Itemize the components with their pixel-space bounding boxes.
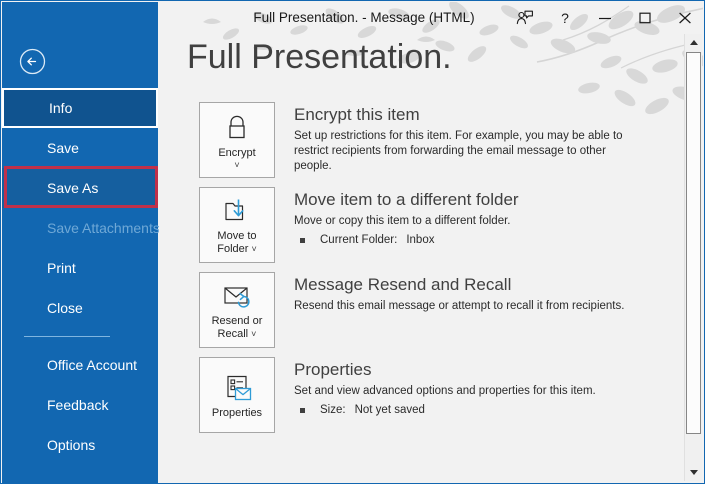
sidebar-item-label: Print — [47, 260, 76, 276]
fact-current-folder: Current Folder: Inbox — [294, 232, 679, 248]
back-arrow-icon[interactable] — [19, 48, 46, 75]
section-description: Set and view advanced options and proper… — [294, 384, 639, 399]
padlock-icon — [224, 111, 250, 145]
backstage-sidebar: Info Save Save As Save Attachments Print… — [2, 2, 158, 484]
sidebar-item-save-as[interactable]: Save As — [2, 168, 158, 208]
sidebar-item-info[interactable]: Info — [2, 88, 158, 128]
resend-or-recall-button[interactable]: Resend or Recall ˅ — [199, 272, 275, 348]
titlebar-button-group: ? — [505, 2, 703, 33]
sidebar-item-save-attachments: Save Attachments — [2, 208, 158, 248]
section-facts: Current Folder: Inbox — [294, 232, 679, 248]
main-scrollbar[interactable] — [684, 34, 702, 481]
scrollbar-thumb[interactable] — [686, 52, 701, 434]
scroll-down-icon[interactable] — [685, 464, 702, 481]
section-heading: Encrypt this item — [294, 104, 679, 126]
section-move-to-folder: Move to Folder ˅ Move item to a differen… — [159, 187, 679, 263]
section-encrypt-body: Encrypt this item Set up restrictions fo… — [294, 102, 679, 174]
sidebar-item-label: Feedback — [47, 397, 108, 413]
sidebar-divider — [24, 336, 110, 337]
section-resend-recall-body: Message Resend and Recall Resend this em… — [294, 272, 679, 314]
fact-label: Current Folder: — [320, 232, 397, 248]
section-description: Set up restrictions for this item. For e… — [294, 129, 639, 174]
sidebar-item-office-account[interactable]: Office Account — [2, 345, 158, 385]
page-title: Full Presentation. — [187, 38, 452, 77]
chevron-down-icon: ˅ — [234, 160, 239, 170]
properties-icon — [222, 371, 252, 405]
sidebar-item-label: Options — [47, 437, 95, 453]
sidebar-item-label: Office Account — [47, 357, 137, 373]
share-person-icon[interactable] — [505, 2, 545, 33]
move-to-folder-button[interactable]: Move to Folder ˅ — [199, 187, 275, 263]
window-titlebar: Full Presentation. - Message (HTML) ? — [159, 2, 703, 33]
section-properties-body: Properties Set and view advanced options… — [294, 357, 679, 418]
sidebar-item-label: Close — [47, 300, 83, 316]
help-icon[interactable]: ? — [545, 2, 585, 33]
properties-button-label: Properties — [212, 407, 262, 420]
bullet-icon — [300, 238, 305, 243]
outlook-backstage-window: Info Save Save As Save Attachments Print… — [0, 0, 705, 484]
sidebar-item-print[interactable]: Print — [2, 248, 158, 288]
backstage-nav-list: Info Save Save As Save Attachments Print… — [2, 88, 158, 465]
sidebar-item-label: Info — [49, 100, 72, 116]
section-encrypt: Encrypt ˅ Encrypt this item Set up restr… — [159, 102, 679, 178]
section-move-to-folder-body: Move item to a different folder Move or … — [294, 187, 679, 248]
sidebar-item-close[interactable]: Close — [2, 288, 158, 328]
section-heading: Message Resend and Recall — [294, 274, 679, 296]
maximize-icon[interactable] — [625, 2, 665, 33]
section-heading: Move item to a different folder — [294, 189, 679, 211]
section-description: Move or copy this item to a different fo… — [294, 214, 639, 229]
properties-button[interactable]: Properties — [199, 357, 275, 433]
chevron-down-icon: ˅ — [251, 244, 256, 254]
sidebar-item-label: Save As — [47, 180, 98, 196]
resend-or-recall-button-label: Resend or Recall ˅ — [212, 315, 263, 341]
sidebar-item-label: Save — [47, 140, 79, 156]
fact-size: Size: Not yet saved — [294, 402, 679, 418]
section-resend-recall: Resend or Recall ˅ Message Resend and Re… — [159, 272, 679, 348]
section-properties: Properties Properties Set and view advan… — [159, 357, 679, 433]
sidebar-item-feedback[interactable]: Feedback — [2, 385, 158, 425]
bullet-icon — [300, 408, 305, 413]
scroll-up-icon[interactable] — [685, 34, 702, 51]
resend-envelope-icon — [221, 279, 253, 313]
encrypt-button-label: Encrypt — [218, 147, 255, 160]
fact-value: Inbox — [406, 232, 434, 248]
move-to-folder-button-label: Move to Folder ˅ — [217, 230, 257, 256]
move-to-folder-icon — [222, 194, 252, 228]
backstage-main-pane: Full Presentation. - Message (HTML) ? — [159, 2, 703, 482]
minimize-icon[interactable] — [585, 2, 625, 33]
fact-value: Not yet saved — [355, 402, 425, 418]
section-description: Resend this email message or attempt to … — [294, 299, 639, 314]
close-icon[interactable] — [665, 2, 703, 33]
encrypt-button[interactable]: Encrypt ˅ — [199, 102, 275, 178]
sidebar-item-options[interactable]: Options — [2, 425, 158, 465]
sidebar-item-save[interactable]: Save — [2, 128, 158, 168]
sidebar-item-label: Save Attachments — [47, 220, 160, 236]
chevron-down-icon: ˅ — [251, 329, 256, 339]
fact-label: Size: — [320, 402, 346, 418]
section-facts: Size: Not yet saved — [294, 402, 679, 418]
section-heading: Properties — [294, 359, 679, 381]
info-sections: Encrypt ˅ Encrypt this item Set up restr… — [159, 102, 679, 442]
